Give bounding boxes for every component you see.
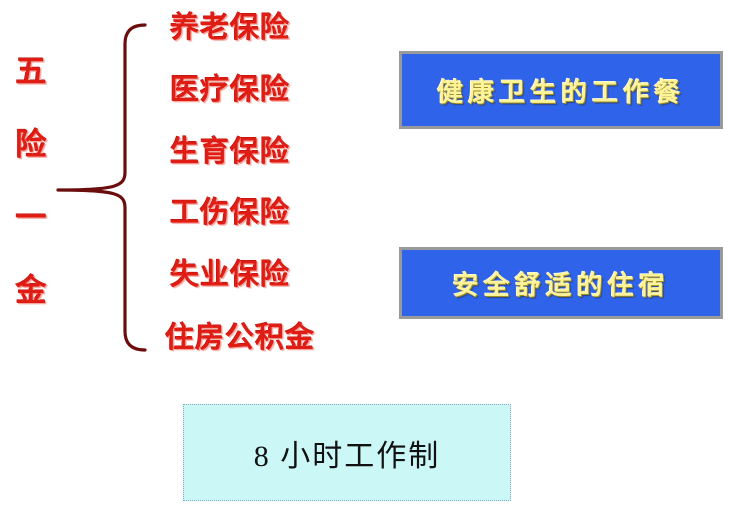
vertical-label-char-4: 金 [16, 275, 47, 306]
slide-canvas: 五 险 一 金 养老保险 医疗保险 生育保险 工伤保险 失业保险 住房公积金 健… [0, 0, 738, 522]
vertical-label-char-2: 险 [16, 129, 47, 160]
list-item: 失业保险 [170, 261, 290, 290]
benefit-box-meals-label: 健康卫生的工作餐 [437, 72, 685, 109]
insurance-item-list: 养老保险 医疗保险 生育保险 工伤保险 失业保险 住房公积金 [160, 0, 375, 370]
list-item: 医疗保险 [170, 76, 290, 105]
list-item: 住房公积金 [165, 324, 315, 353]
benefit-box-working-hours-label: 8 小时工作制 [254, 431, 441, 475]
vertical-label-wuxianyijin: 五 险 一 金 [8, 56, 54, 306]
list-item: 工伤保险 [170, 199, 290, 228]
list-item: 生育保险 [170, 138, 290, 167]
vertical-label-char-3: 一 [16, 202, 47, 233]
brace-connector [55, 20, 150, 355]
benefit-box-working-hours: 8 小时工作制 [183, 404, 511, 501]
benefit-box-housing-label: 安全舒适的住宿 [452, 265, 669, 302]
vertical-label-char-1: 五 [16, 56, 47, 87]
benefit-box-housing: 安全舒适的住宿 [399, 247, 723, 319]
list-item: 养老保险 [170, 14, 290, 43]
left-curly-brace-icon [55, 20, 150, 355]
benefit-box-meals: 健康卫生的工作餐 [399, 51, 723, 129]
